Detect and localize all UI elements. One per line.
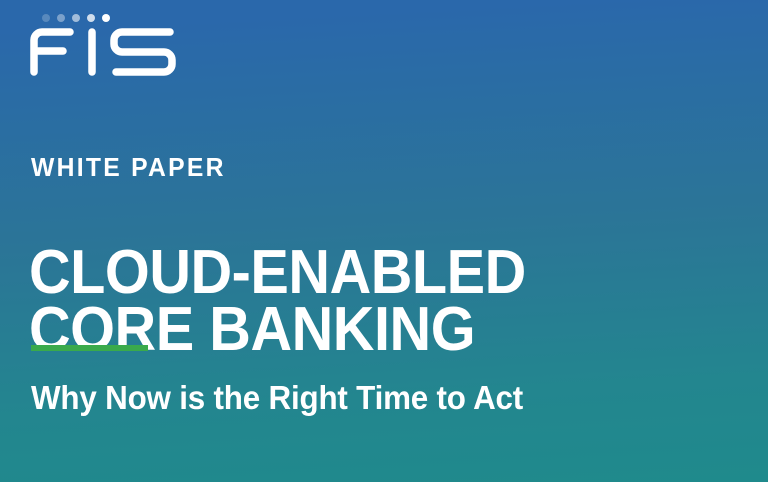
whitepaper-cover: WHITE PAPER CLOUD-ENABLED CORE BANKING W… bbox=[0, 0, 768, 482]
eyebrow-label: WHITE PAPER bbox=[31, 154, 226, 180]
dot-4 bbox=[87, 14, 95, 22]
dot-3 bbox=[72, 14, 80, 22]
page-subtitle: Why Now is the Right Time to Act bbox=[31, 381, 523, 414]
fis-wordmark-icon bbox=[30, 28, 180, 76]
dot-1 bbox=[42, 14, 50, 22]
fis-logo bbox=[30, 8, 260, 78]
gradient-dots-icon bbox=[42, 14, 110, 22]
dot-2 bbox=[57, 14, 65, 22]
page-title: CLOUD-ENABLED CORE BANKING bbox=[29, 244, 526, 359]
dot-5 bbox=[102, 14, 110, 22]
green-divider bbox=[31, 345, 148, 351]
